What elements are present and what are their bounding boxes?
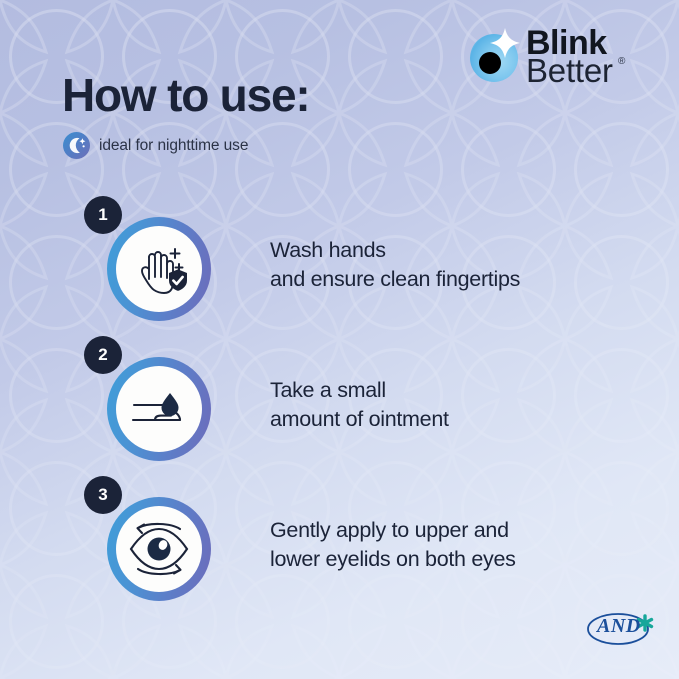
step-text-2: Take a small amount of ointment <box>270 376 449 433</box>
step-text-3: Gently apply to upper and lower eyelids … <box>270 516 516 573</box>
subtitle-row: ideal for nighttime use <box>63 132 248 159</box>
step-number-badge-2: 2 <box>84 336 122 374</box>
brand-name-line2: Better <box>526 54 613 87</box>
moon-icon <box>63 132 90 159</box>
subtitle-text: ideal for nighttime use <box>99 137 248 155</box>
ointment-tube-drop-icon <box>125 375 193 443</box>
brand-logo: Blink Better ® <box>470 26 645 88</box>
washing-hands-icon <box>125 235 193 303</box>
step-item-3: 3 <box>84 476 604 606</box>
step-item-1: 1 <box>84 196 604 326</box>
poster-canvas: Blink Better ® How to use: ideal for nig… <box>0 0 679 679</box>
and-logo-text: AND <box>597 615 641 638</box>
registered-trademark-symbol: ® <box>618 56 625 67</box>
eye-with-arrows-icon <box>123 513 195 585</box>
step-text-1: Wash hands and ensure clean fingertips <box>270 236 520 293</box>
page-title: How to use: <box>62 72 309 118</box>
and-logo: AND <box>584 604 660 650</box>
sparkle-icon <box>490 28 520 58</box>
step-item-2: 2 Take a small amou <box>84 336 604 466</box>
step-icon-ring-2 <box>107 357 211 461</box>
step-number-badge-3: 3 <box>84 476 122 514</box>
step-icon-ring-1 <box>107 217 211 321</box>
step-number-badge-1: 1 <box>84 196 122 234</box>
step-icon-ring-3 <box>107 497 211 601</box>
